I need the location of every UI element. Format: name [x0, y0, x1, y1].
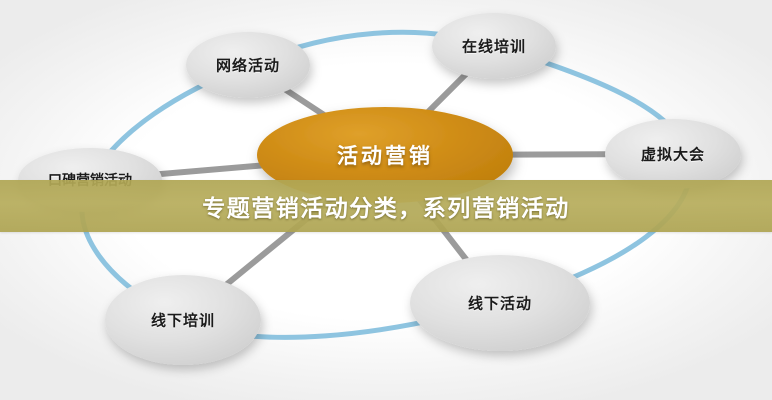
node-label-xianxia-huodong: 线下活动 — [468, 293, 532, 314]
caption-banner-text: 专题营销活动分类，系列营销活动 — [0, 180, 772, 232]
diagram-canvas: 活动营销 网络活动 在线培训 虚拟大会 线下活动 线下培训 口碑营销活动 专题营… — [0, 0, 772, 400]
node-label-wangluo-huodong: 网络活动 — [216, 55, 280, 76]
node-label-xuni-dahui: 虚拟大会 — [641, 144, 705, 165]
node-label-zaixian-peixun: 在线培训 — [462, 36, 526, 57]
center-node-label: 活动营销 — [337, 140, 433, 170]
node-label-xianxia-peixun: 线下培训 — [151, 310, 215, 331]
